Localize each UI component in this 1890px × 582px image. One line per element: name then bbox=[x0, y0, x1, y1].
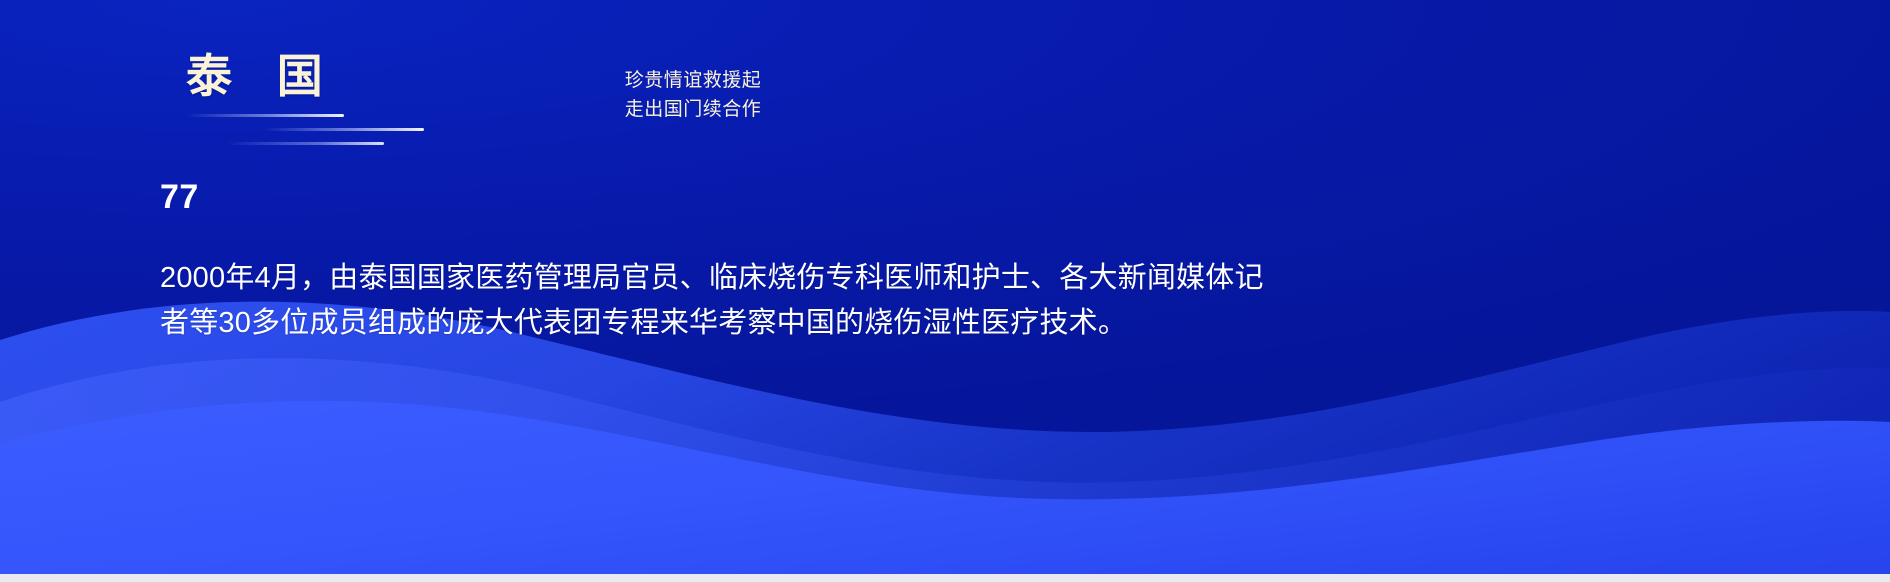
slide-body: 77 2000年4月，由泰国国家医药管理局官员、临床烧伤专科医师和护士、各大新闻… bbox=[160, 180, 1580, 346]
subtitle-line-1: 珍贵情谊救援起 bbox=[493, 66, 893, 95]
bottom-strip bbox=[0, 574, 1890, 582]
paragraph-line-2: 者等30多位成员组成的庞大代表团专程来华考察中国的烧伤湿性医疗技术。 bbox=[160, 301, 1370, 346]
slide-subtitle: 珍贵情谊救援起 走出国门续合作 bbox=[493, 66, 893, 124]
body-paragraph: 2000年4月，由泰国国家医药管理局官员、临床烧伤专科医师和护士、各大新闻媒体记… bbox=[160, 256, 1370, 346]
subtitle-line-2: 走出国门续合作 bbox=[493, 95, 893, 124]
slide-content: 泰 国 珍贵情谊救援起 走出国门续合作 77 2000年4月，由泰国国家医药管理… bbox=[0, 0, 1890, 582]
country-title: 泰 国 bbox=[186, 52, 506, 100]
item-number: 77 bbox=[160, 180, 1580, 214]
country-block: 泰 国 bbox=[186, 52, 506, 100]
decorative-rule-2 bbox=[264, 128, 424, 131]
decorative-rules bbox=[186, 114, 486, 160]
slide-root: 泰 国 珍贵情谊救援起 走出国门续合作 77 2000年4月，由泰国国家医药管理… bbox=[0, 0, 1890, 582]
decorative-rule-1 bbox=[186, 114, 344, 117]
decorative-rule-3 bbox=[226, 142, 384, 145]
slide-header: 泰 国 珍贵情谊救援起 走出国门续合作 bbox=[0, 52, 1890, 182]
paragraph-line-1: 2000年4月，由泰国国家医药管理局官员、临床烧伤专科医师和护士、各大新闻媒体记 bbox=[160, 256, 1370, 301]
